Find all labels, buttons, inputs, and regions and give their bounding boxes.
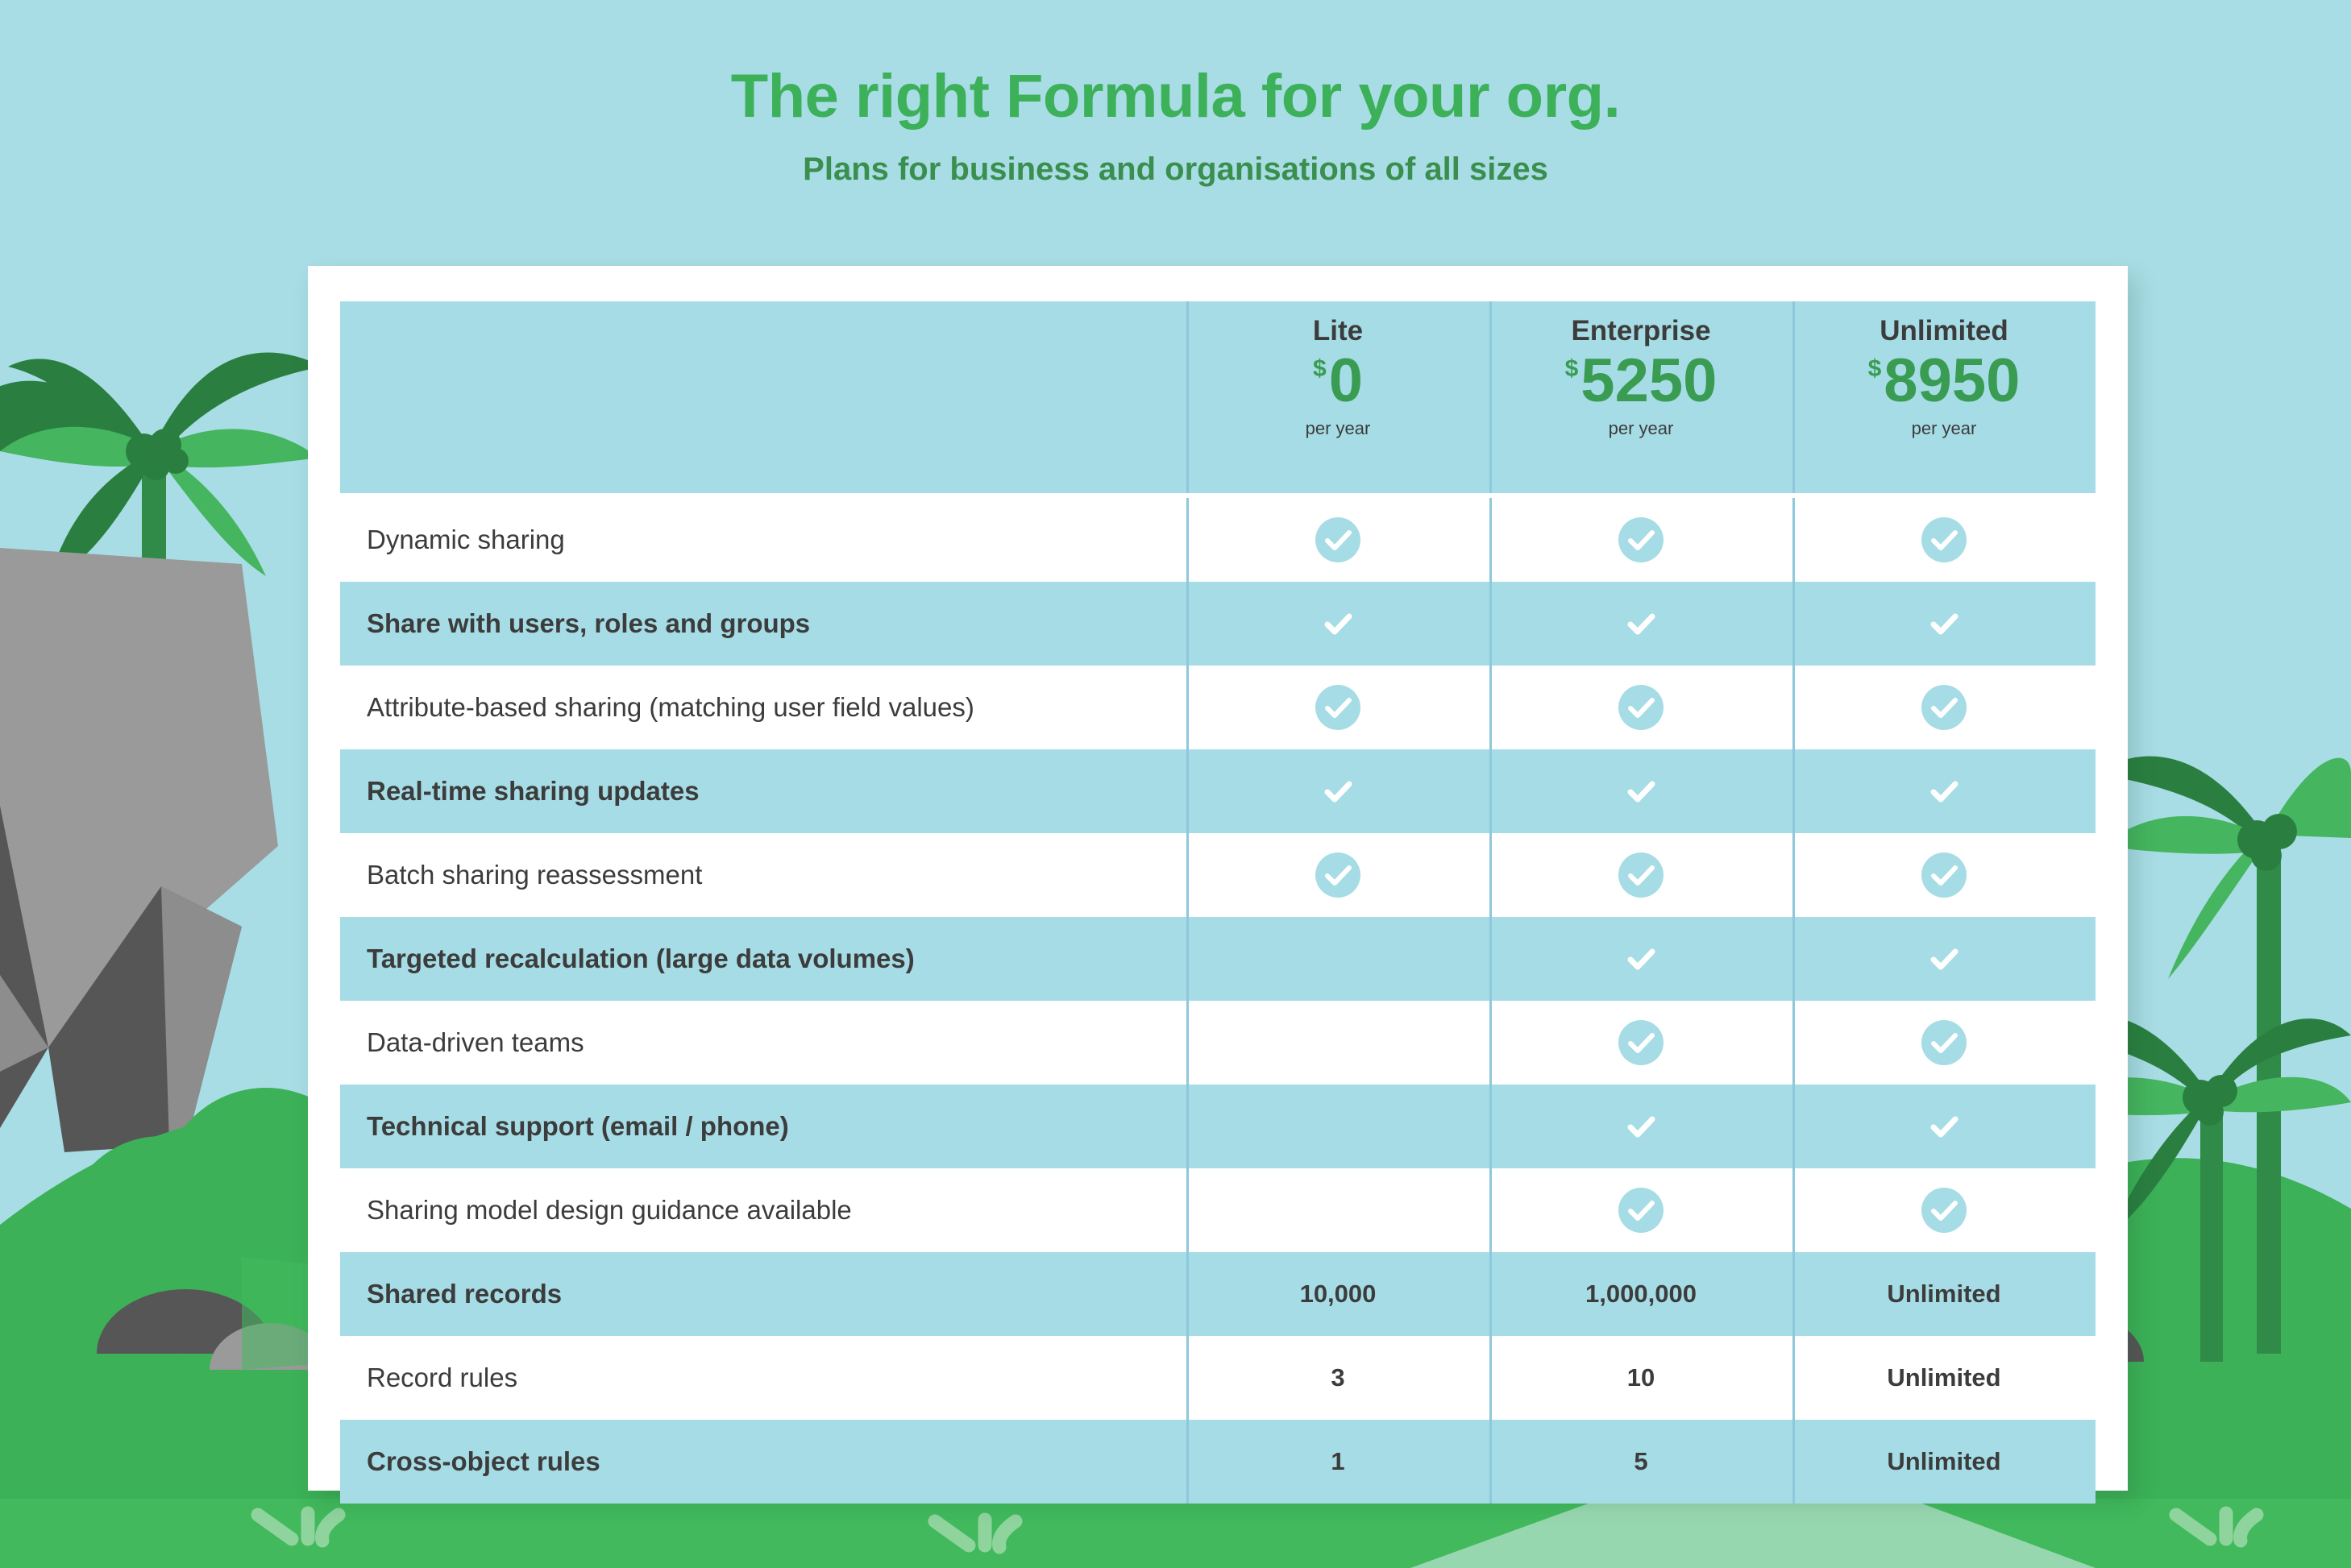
feature-label: Data-driven teams [367,1027,584,1058]
feature-check-cell [1792,1168,2096,1252]
check-icon [1921,601,1967,646]
feature-row: Dynamic sharing [340,498,2096,582]
feature-row: Technical support (email / phone) [340,1085,2096,1168]
limit-value: Unlimited [1887,1280,2000,1309]
check-icon [1618,769,1664,814]
plan-price: 0 [1329,352,1363,410]
feature-check-cell [1792,1085,2096,1168]
limit-value-cell: 5 [1489,1420,1792,1504]
feature-row: Data-driven teams [340,1001,2096,1085]
limit-value: 1,000,000 [1585,1280,1697,1309]
limit-value-cell: Unlimited [1792,1420,2096,1504]
plan-name: Unlimited [1880,316,2008,347]
plan-column-lite[interactable]: Lite $ 0 per year [1186,301,1489,493]
feature-check-cell [1792,1001,2096,1085]
check-icon [1921,936,1967,981]
feature-label: Attribute-based sharing (matching user f… [367,692,974,723]
limit-label-cell: Shared records [340,1252,1186,1336]
plan-price: 5250 [1580,352,1717,410]
feature-check-cell [1489,917,1792,1001]
limit-label-cell: Cross-object rules [340,1420,1186,1504]
currency-symbol: $ [1313,357,1327,381]
check-circle-icon [1618,685,1664,730]
feature-label-cell: Share with users, roles and groups [340,582,1186,666]
check-circle-icon [1618,517,1664,562]
feature-check-cell [1489,666,1792,749]
check-circle-icon [1618,1020,1664,1065]
feature-row: Share with users, roles and groups [340,582,2096,666]
feature-label: Sharing model design guidance available [367,1195,852,1226]
limit-value: Unlimited [1887,1363,2000,1392]
feature-row: Attribute-based sharing (matching user f… [340,666,2096,749]
feature-check-cell [1186,833,1489,917]
plan-period: per year [1609,418,1674,439]
feature-check-cell [1792,833,2096,917]
feature-label-cell: Technical support (email / phone) [340,1085,1186,1168]
check-icon [1618,1104,1664,1149]
check-circle-icon [1921,1188,1967,1233]
check-circle-icon [1618,1188,1664,1233]
check-icon [1618,936,1664,981]
check-icon [1618,601,1664,646]
feature-row: Real-time sharing updates [340,749,2096,833]
feature-label: Technical support (email / phone) [367,1111,789,1142]
feature-row: Targeted recalculation (large data volum… [340,917,2096,1001]
limit-row: Shared records10,0001,000,000Unlimited [340,1252,2096,1336]
feature-row: Sharing model design guidance available [340,1168,2096,1252]
feature-check-cell [1792,582,2096,666]
plan-name: Enterprise [1571,316,1710,347]
header-empty-cell [340,301,1186,493]
check-circle-icon [1315,852,1360,898]
limit-label-cell: Record rules [340,1336,1186,1420]
plan-period: per year [1306,418,1371,439]
currency-symbol: $ [1565,357,1579,381]
page-subtitle: Plans for business and organisations of … [0,153,2351,185]
feature-check-cell [1186,498,1489,582]
table-header-row: Lite $ 0 per year Enterprise $ 5250 per … [340,301,2096,493]
check-circle-icon [1921,852,1967,898]
page-header: The right Formula for your org. Plans fo… [0,0,2351,185]
feature-label: Share with users, roles and groups [367,608,810,639]
plan-price: 8950 [1884,352,2020,410]
plan-column-unlimited[interactable]: Unlimited $ 8950 per year [1792,301,2096,493]
feature-label: Real-time sharing updates [367,776,700,807]
limit-row: Record rules310Unlimited [340,1336,2096,1420]
limit-value-cell: 10 [1489,1336,1792,1420]
check-circle-icon [1921,1020,1967,1065]
table-body: Dynamic sharingShare with users, roles a… [340,498,2096,1504]
plan-column-enterprise[interactable]: Enterprise $ 5250 per year [1489,301,1792,493]
check-icon [1315,601,1360,646]
plan-period: per year [1912,418,1977,439]
check-circle-icon [1315,517,1360,562]
feature-check-cell [1489,833,1792,917]
pricing-table: Lite $ 0 per year Enterprise $ 5250 per … [340,301,2096,1504]
feature-check-cell [1489,498,1792,582]
feature-check-cell [1186,1085,1489,1168]
limit-value: 10 [1627,1363,1655,1392]
feature-label-cell: Data-driven teams [340,1001,1186,1085]
feature-check-cell [1186,666,1489,749]
feature-label-cell: Sharing model design guidance available [340,1168,1186,1252]
limit-value: Unlimited [1887,1447,2000,1476]
feature-check-cell [1186,917,1489,1001]
check-circle-icon [1921,685,1967,730]
check-circle-icon [1618,852,1664,898]
limit-label: Cross-object rules [367,1446,600,1477]
limit-value: 1 [1331,1447,1344,1476]
feature-label: Dynamic sharing [367,525,565,555]
page-title: The right Formula for your org. [0,66,2351,127]
feature-label-cell: Attribute-based sharing (matching user f… [340,666,1186,749]
limit-row: Cross-object rules15Unlimited [340,1420,2096,1504]
limit-value-cell: Unlimited [1792,1252,2096,1336]
feature-row: Batch sharing reassessment [340,833,2096,917]
feature-check-cell [1792,498,2096,582]
currency-symbol: $ [1868,357,1882,381]
check-icon [1315,769,1360,814]
limit-value-cell: Unlimited [1792,1336,2096,1420]
feature-label-cell: Batch sharing reassessment [340,833,1186,917]
feature-check-cell [1489,1001,1792,1085]
limit-value: 10,000 [1300,1280,1377,1309]
limit-value-cell: 1 [1186,1420,1489,1504]
feature-label: Targeted recalculation (large data volum… [367,944,915,974]
check-icon [1921,1104,1967,1149]
limit-value: 3 [1331,1363,1344,1392]
feature-check-cell [1792,666,2096,749]
pricing-card: Lite $ 0 per year Enterprise $ 5250 per … [308,266,2128,1491]
feature-label-cell: Dynamic sharing [340,498,1186,582]
feature-check-cell [1792,917,2096,1001]
feature-check-cell [1186,1168,1489,1252]
check-circle-icon [1315,685,1360,730]
limit-value-cell: 3 [1186,1336,1489,1420]
check-icon [1921,769,1967,814]
check-circle-icon [1921,517,1967,562]
feature-check-cell [1489,1168,1792,1252]
feature-check-cell [1489,1085,1792,1168]
feature-check-cell [1186,1001,1489,1085]
feature-label-cell: Real-time sharing updates [340,749,1186,833]
feature-check-cell [1489,582,1792,666]
feature-label: Batch sharing reassessment [367,860,702,890]
feature-check-cell [1186,749,1489,833]
limit-label: Shared records [367,1279,562,1309]
limit-value-cell: 1,000,000 [1489,1252,1792,1336]
limit-value: 5 [1634,1447,1647,1476]
limit-label: Record rules [367,1363,517,1393]
feature-check-cell [1489,749,1792,833]
feature-check-cell [1186,582,1489,666]
feature-check-cell [1792,749,2096,833]
limit-value-cell: 10,000 [1186,1252,1489,1336]
plan-name: Lite [1313,316,1363,347]
feature-label-cell: Targeted recalculation (large data volum… [340,917,1186,1001]
